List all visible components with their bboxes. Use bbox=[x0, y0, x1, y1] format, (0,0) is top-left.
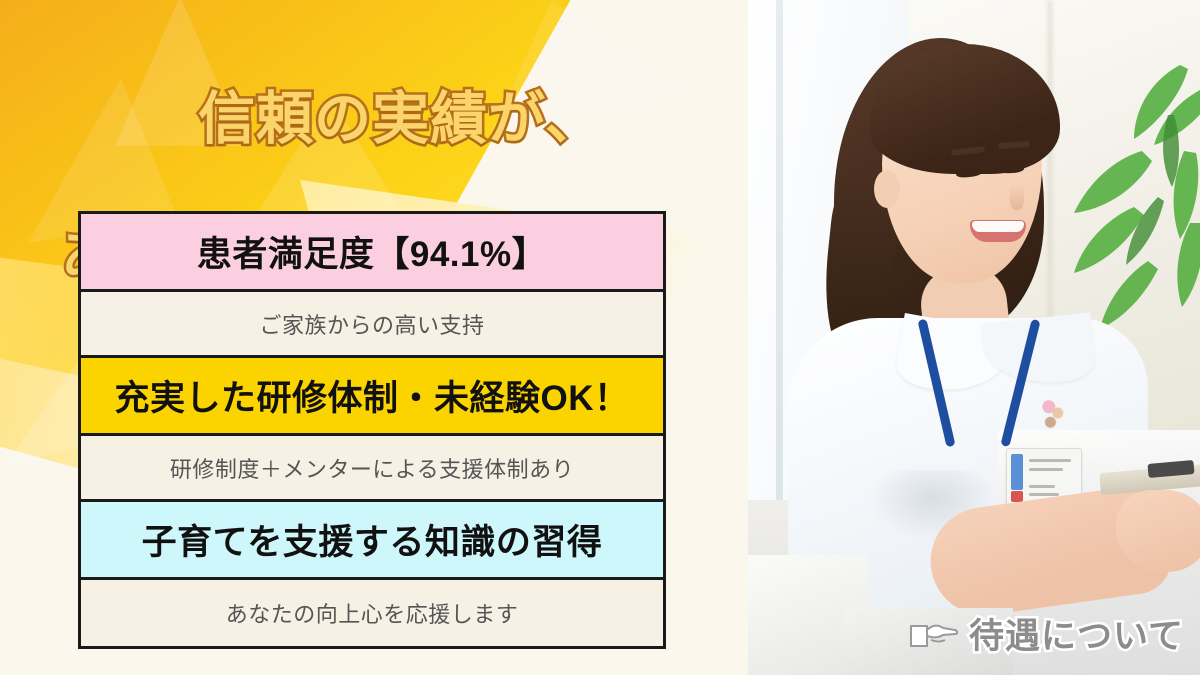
nurse-nose bbox=[1010, 184, 1024, 210]
table-row-subtitle: 研修制度＋メンターによる支援体制あり bbox=[81, 436, 663, 502]
id-card-strip bbox=[1011, 454, 1023, 490]
photo-window-frame bbox=[776, 0, 783, 520]
cta-label: 待遇について bbox=[969, 608, 1184, 659]
slide-canvas: 信頼の実績が、 あなたの選択を支える 患者満足度【94.1%】 ご家族からの高い… bbox=[0, 0, 1200, 675]
table-row-title: 充実した研修体制・未経験OK！ bbox=[81, 358, 663, 436]
id-card-text-line bbox=[1029, 468, 1063, 471]
id-card-text-line bbox=[1029, 459, 1071, 462]
plant-icon bbox=[1030, 55, 1200, 345]
nurse-hand bbox=[1116, 490, 1200, 572]
id-card-text-line bbox=[1029, 485, 1055, 488]
nurse-mouth bbox=[970, 220, 1026, 242]
nurse-ear bbox=[874, 170, 900, 208]
nurse-teeth bbox=[972, 221, 1024, 232]
table-row-title: 子育てを支援する知識の習得 bbox=[81, 502, 663, 580]
table-row-subtitle: ご家族からの高い支持 bbox=[81, 292, 663, 358]
table-row-title: 患者満足度【94.1%】 bbox=[81, 214, 663, 292]
left-content-panel: 信頼の実績が、 あなたの選択を支える 患者満足度【94.1%】 ご家族からの高い… bbox=[0, 0, 748, 675]
nurse-photo: 待遇について bbox=[748, 0, 1200, 675]
table-row-subtitle: あなたの向上心を応援します bbox=[81, 580, 663, 646]
uniform-badge bbox=[1036, 392, 1068, 434]
cta-banner[interactable]: 待遇について bbox=[907, 608, 1184, 659]
pointing-hand-icon bbox=[907, 614, 959, 654]
id-card-strip bbox=[1011, 491, 1023, 502]
benefits-table: 患者満足度【94.1%】 ご家族からの高い支持 充実した研修体制・未経験OK！ … bbox=[78, 211, 666, 649]
headline-line-1: 信頼の実績が、 bbox=[198, 87, 603, 151]
id-card-text-line bbox=[1029, 493, 1059, 496]
